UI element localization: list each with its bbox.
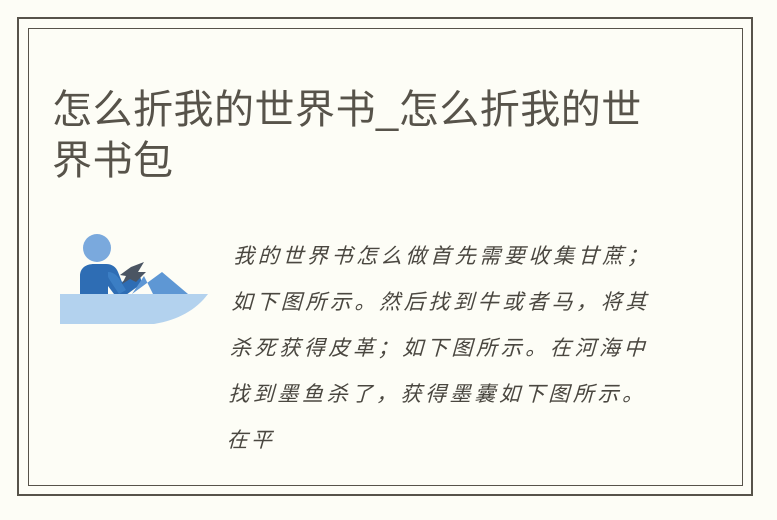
article-body-text: 我的世界书怎么做首先需要收集甘蔗；如下图所示。然后找到牛或者马，将其杀死获得皮革…: [226, 233, 652, 463]
illustration-desk-icon: [60, 294, 208, 324]
person-at-desk-illustration: [58, 232, 210, 332]
article-card-page: 怎么折我的世界书_怎么折我的世界书包 我的世界书怎么做首先需要收集甘蔗；如下图所…: [0, 0, 777, 520]
page-title: 怎么折我的世界书_怎么折我的世界书包: [52, 85, 662, 187]
card-content: 怎么折我的世界书_怎么折我的世界书包 我的世界书怎么做首先需要收集甘蔗；如下图所…: [0, 0, 777, 520]
illustration-head-icon: [83, 234, 111, 262]
